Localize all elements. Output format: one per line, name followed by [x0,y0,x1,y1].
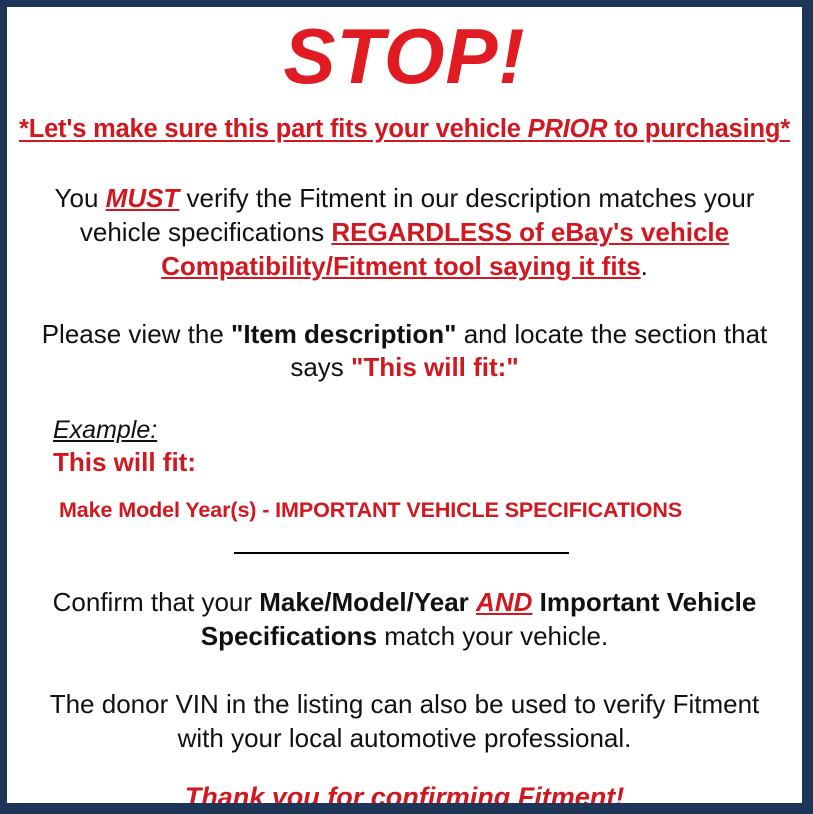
view-description-paragraph: Please view the "Item description" and l… [17,318,792,386]
confirm-space-2 [532,587,539,617]
example-block: Example: This will fit: Make Model Year(… [17,415,792,524]
confirm-end-text: match your vehicle. [377,621,608,651]
fitment-subheading: *Let's make sure this part fits your veh… [17,114,792,146]
section-divider [17,546,792,560]
example-specification-line: Make Model Year(s) - IMPORTANT VEHICLE S… [53,498,792,524]
view-lead-text: Please view the [42,319,231,349]
donor-vin-paragraph: The donor VIN in the listing can also be… [17,688,792,756]
example-this-will-fit-line: This will fit: [53,447,792,478]
verify-end-text: . [641,251,648,281]
fitment-notice-card: STOP! *Let's make sure this part fits yo… [0,0,813,814]
item-description-emphasis: "Item description" [231,319,456,349]
this-will-fit-quote: "This will fit:" [351,352,519,382]
subheading-suffix: to purchasing* [607,115,790,143]
example-label: Example: [53,415,792,445]
confirm-space-1 [469,587,476,617]
stop-heading: STOP! [17,7,792,100]
verify-fitment-paragraph: You MUST verify the Fitment in our descr… [17,182,792,283]
divider-rule [234,552,569,554]
verify-lead-text: You [55,183,106,213]
confirm-paragraph: Confirm that your Make/Model/Year AND Im… [17,586,792,654]
thank-you-message: Thank you for confirming Fitment! [17,781,792,813]
confirm-lead-text: Confirm that your [53,587,260,617]
must-emphasis: MUST [106,183,180,213]
make-model-year-emphasis: Make/Model/Year [259,587,469,617]
subheading-prior-emphasis: PRIOR [528,115,608,143]
subheading-prefix: *Let's make sure this part fits your veh… [19,115,528,143]
and-emphasis: AND [476,587,532,617]
